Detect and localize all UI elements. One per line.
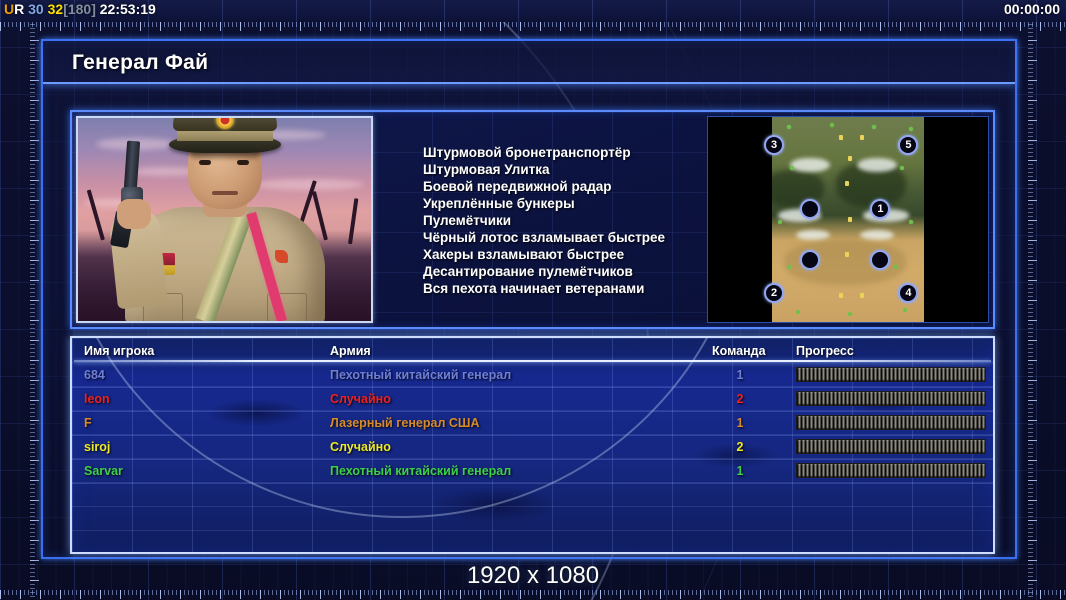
cell-army: Случайно bbox=[330, 392, 391, 406]
cell-player-name: leon bbox=[84, 392, 110, 406]
tree-marker bbox=[787, 125, 791, 129]
cell-army: Случайно bbox=[330, 440, 391, 454]
cell-team: 1 bbox=[720, 464, 760, 478]
player-rows: 684Пехотный китайский генерал1leonСлучай… bbox=[72, 364, 993, 484]
player-list-panel: Имя игрока Армия Команда Прогресс 684Пех… bbox=[70, 336, 995, 554]
supply-marker bbox=[848, 217, 852, 222]
sky-wisp bbox=[254, 179, 364, 190]
supply-marker bbox=[860, 293, 864, 298]
progress-bar bbox=[796, 367, 986, 382]
cell-army: Пехотный китайский генерал bbox=[330, 368, 511, 382]
ability-item: Пулемётчики bbox=[423, 212, 703, 229]
terrain-snow bbox=[790, 158, 830, 172]
supply-marker bbox=[860, 135, 864, 140]
supply-marker bbox=[839, 293, 843, 298]
ability-item: Вся пехота начинает ветеранами bbox=[423, 280, 703, 297]
minimap-container[interactable]: 3 5 1 2 4 bbox=[703, 112, 993, 327]
table-row[interactable]: SarvarПехотный китайский генерал1 bbox=[72, 460, 993, 484]
resolution-label: 1920 x 1080 bbox=[0, 562, 1066, 590]
general-info-panel: Штурмовой бронетранспортёр Штурмовая Ули… bbox=[70, 110, 995, 329]
terrain-snow bbox=[860, 230, 893, 240]
cell-team: 1 bbox=[720, 416, 760, 430]
terrain-snow bbox=[796, 230, 829, 240]
cell-team: 1 bbox=[720, 368, 760, 382]
ruler-left bbox=[30, 0, 40, 600]
network-status-readout: UR 30 32[180] 22:53:19 bbox=[4, 1, 156, 17]
table-row[interactable]: sirojСлучайно2 bbox=[72, 436, 993, 460]
insignia-icon bbox=[275, 250, 288, 263]
minimap[interactable]: 3 5 1 2 4 bbox=[707, 116, 989, 323]
column-header-team: Команда bbox=[712, 344, 766, 358]
ability-item: Боевой передвижной радар bbox=[423, 178, 703, 195]
column-header-army: Армия bbox=[330, 344, 371, 358]
status-clock: 22:53:19 bbox=[100, 1, 156, 17]
cell-army: Пехотный китайский генерал bbox=[330, 464, 511, 478]
ruler-top bbox=[0, 22, 1066, 32]
cell-player-name: siroj bbox=[84, 440, 110, 454]
status-value-30: 30 bbox=[28, 1, 44, 17]
ability-item: Десантирование пулемётчиков bbox=[423, 263, 703, 280]
top-status-bar: UR 30 32[180] 22:53:19 00:00:00 bbox=[0, 0, 1066, 22]
tree-marker bbox=[848, 312, 852, 316]
general-eye-right bbox=[237, 160, 249, 165]
general-eye-left bbox=[199, 160, 211, 165]
cell-player-name: Sarvar bbox=[84, 464, 123, 478]
supply-marker bbox=[845, 181, 849, 186]
general-abilities-list: Штурмовой бронетранспортёр Штурмовая Ули… bbox=[377, 112, 703, 327]
table-header-divider bbox=[74, 360, 991, 362]
progress-bar bbox=[796, 391, 986, 406]
cell-team: 2 bbox=[720, 440, 760, 454]
start-position-marker[interactable]: 2 bbox=[764, 283, 784, 303]
tree-marker bbox=[778, 220, 782, 224]
progress-bar bbox=[796, 439, 986, 454]
tree-marker bbox=[909, 220, 913, 224]
page-title: Генерал Фай bbox=[72, 51, 208, 75]
ruler-right bbox=[1028, 0, 1038, 600]
status-prefix-r: R bbox=[14, 1, 24, 17]
general-portrait-container bbox=[72, 112, 377, 327]
tree-marker bbox=[903, 308, 907, 312]
tree-marker bbox=[796, 310, 800, 314]
tree-marker bbox=[900, 166, 904, 170]
ability-item: Штурмовая Улитка bbox=[423, 161, 703, 178]
cell-army: Лазерный генерал США bbox=[330, 416, 479, 430]
table-row[interactable]: FЛазерный генерал США1 bbox=[72, 412, 993, 436]
tree-marker bbox=[872, 125, 876, 129]
column-header-progress: Прогресс bbox=[796, 344, 854, 358]
game-lobby-screen: UR 30 32[180] 22:53:19 00:00:00 Генерал … bbox=[0, 0, 1066, 600]
topbar-grid bbox=[0, 0, 1066, 22]
status-value-32: 32 bbox=[48, 1, 64, 17]
status-prefix-u: U bbox=[4, 1, 14, 17]
supply-marker bbox=[839, 135, 843, 140]
progress-bar bbox=[796, 415, 986, 430]
cell-player-name: 684 bbox=[84, 368, 105, 382]
general-portrait-image bbox=[76, 116, 373, 323]
tree-marker bbox=[894, 265, 898, 269]
column-header-player-name: Имя игрока bbox=[84, 344, 154, 358]
status-bracket-value: [180] bbox=[63, 1, 96, 17]
supply-marker bbox=[848, 156, 852, 161]
ability-item: Укреплённые бункеры bbox=[423, 195, 703, 212]
ruler-bottom bbox=[0, 590, 1066, 600]
tree-marker bbox=[830, 123, 834, 127]
supply-marker bbox=[845, 252, 849, 257]
ability-item: Штурмовой бронетранспортёр bbox=[423, 144, 703, 161]
general-hand bbox=[117, 199, 151, 229]
table-row[interactable]: 684Пехотный китайский генерал1 bbox=[72, 364, 993, 388]
ability-item: Чёрный лотос взламывает быстрее bbox=[423, 229, 703, 246]
cell-team: 2 bbox=[720, 392, 760, 406]
tree-marker bbox=[909, 127, 913, 131]
ability-item: Хакеры взламывают быстрее bbox=[423, 246, 703, 263]
progress-bar bbox=[796, 463, 986, 478]
match-timer: 00:00:00 bbox=[1004, 1, 1060, 17]
cell-player-name: F bbox=[84, 416, 92, 430]
general-mouth bbox=[212, 191, 238, 195]
table-row[interactable]: leonСлучайно2 bbox=[72, 388, 993, 412]
tree-marker bbox=[787, 265, 791, 269]
